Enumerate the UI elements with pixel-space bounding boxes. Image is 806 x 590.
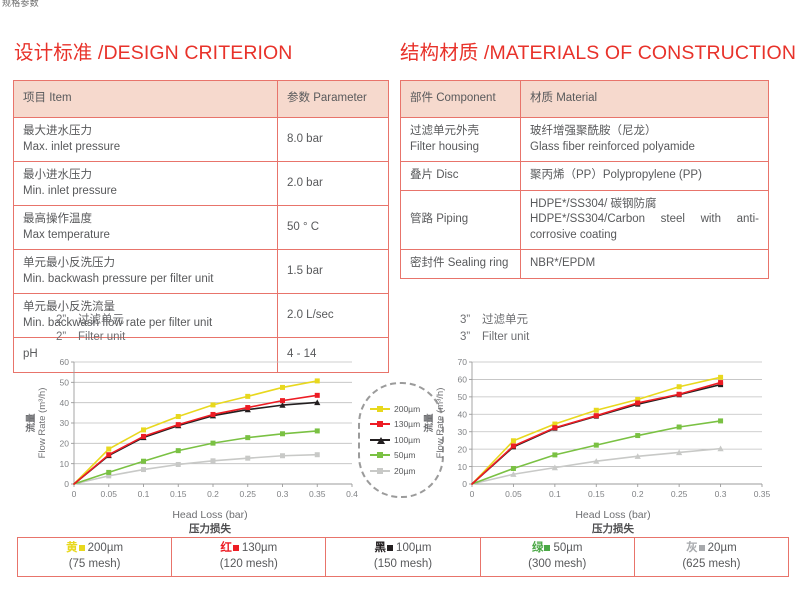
material-component-en: 管路 Piping: [410, 212, 511, 228]
chart-data-point: [594, 413, 599, 418]
spec-item-en: Max. inlet pressure: [23, 140, 268, 156]
color-key-name-cn: 黑: [375, 542, 387, 554]
chart-data-point: [677, 392, 682, 397]
material-component-cell: 过滤单元外壳Filter housing: [401, 118, 521, 162]
table-row: 单元最小反洗压力Min. backwash pressure per filte…: [14, 250, 389, 294]
color-key-name-cn: 绿: [532, 542, 544, 554]
material-value-cn: 玻纤增强聚酰胺（尼龙）: [530, 124, 759, 140]
color-key-cell: 黄200µm(75 mesh): [18, 538, 172, 576]
chart-x-tick-label: 0.1: [138, 489, 150, 499]
chart-x-tick-label: 0.3: [715, 489, 727, 499]
chart-data-point: [245, 456, 250, 461]
legend-swatch-icon: [370, 435, 390, 445]
chart-y-tick-label: 10: [458, 462, 468, 472]
materials-table: 部件 Component 材质 Material 过滤单元外壳Filter ho…: [400, 80, 769, 279]
chart-data-point: [141, 434, 146, 439]
spec-value-cell: 1.5 bar: [278, 250, 389, 294]
material-value-en: NBR*/EPDM: [530, 256, 759, 272]
legend-label: 130µm: [394, 419, 420, 429]
color-key-swatch-icon: [79, 545, 85, 551]
chart-3in-plot-area: 01020304050607000.050.10.150.20.250.30.3…: [420, 354, 770, 504]
chart-y-tick-label: 40: [458, 409, 468, 419]
spec-item-cn: 最高操作温度: [23, 212, 268, 228]
chart-3in-xlabel-cn: 压力损失: [438, 522, 788, 536]
chart-2in-title-cn: 过滤单元: [78, 314, 124, 326]
chart-2in-xlabel-en: Head Loss (bar): [40, 508, 380, 522]
material-value-cell: 玻纤增强聚酰胺（尼龙）Glass fiber reinforced polyam…: [521, 118, 769, 162]
spec-value-cell: 2.0 bar: [278, 162, 389, 206]
column-header-parameter: 参数 Parameter: [278, 81, 389, 118]
chart-data-point: [635, 433, 640, 438]
spec-item-cell: 单元最小反洗压力Min. backwash pressure per filte…: [14, 250, 278, 294]
chart-3in-x-axis-label: Head Loss (bar) 压力损失: [420, 508, 788, 536]
chart-x-tick-label: 0.4: [346, 489, 358, 499]
legend-label: 20µm: [394, 466, 415, 476]
material-value-cell: HDPE*/SS304/ 碳钢防腐HDPE*/SS304/Carbon stee…: [521, 190, 769, 250]
chart-2in-size-2: 2”: [56, 329, 78, 346]
design-criterion-title-cn: 设计标准: [14, 42, 98, 64]
chart-y-tick-label: 0: [64, 479, 69, 489]
column-header-material: 材质 Material: [521, 81, 769, 118]
chart-data-point: [635, 400, 640, 405]
material-value-cell: 聚丙烯（PP）Polypropylene (PP): [521, 162, 769, 191]
material-value-en: HDPE*/SS304/Carbon steel with anti-corro…: [530, 212, 759, 243]
material-value-cell: NBR*/EPDM: [521, 250, 769, 279]
spec-item-en: Min. backwash pressure per filter unit: [23, 272, 268, 288]
table-header-row: 部件 Component 材质 Material: [401, 81, 769, 118]
legend-swatch-icon: [370, 466, 390, 476]
color-key-cell: 红130µm(120 mesh): [172, 538, 326, 576]
svg-text:Flow Rate (m³/h): Flow Rate (m³/h): [435, 388, 446, 459]
legend-label: 50µm: [394, 450, 415, 460]
color-key-micron: 50µm: [553, 542, 582, 554]
chart-y-tick-label: 30: [458, 427, 468, 437]
chart-2-inch-filter-unit: 2”过滤单元 2”Filter unit 010203040506000.050…: [18, 312, 358, 540]
chart-x-tick-label: 0.1: [549, 489, 561, 499]
chart-data-point: [245, 405, 250, 410]
material-component-cell: 管路 Piping: [401, 190, 521, 250]
chart-data-point: [677, 384, 682, 389]
chart-x-tick-label: 0: [470, 489, 475, 499]
chart-3in-size-1: 3”: [460, 312, 482, 329]
chart-3in-svg: 01020304050607000.050.10.150.20.250.30.3…: [420, 354, 770, 504]
legend-item: 100µm: [370, 432, 420, 448]
chart-data-point: [594, 408, 599, 413]
spec-item-cell: 最大进水压力Max. inlet pressure: [14, 118, 278, 162]
chart-data-point: [315, 452, 320, 457]
chart-3in-title-cn: 过滤单元: [482, 314, 528, 326]
chart-data-point: [552, 452, 557, 457]
table-row: 最大进水压力Max. inlet pressure8.0 bar: [14, 118, 389, 162]
svg-text:流量: 流量: [25, 413, 37, 433]
chart-data-point: [280, 431, 285, 436]
chart-y-tick-label: 50: [458, 392, 468, 402]
legend-item: 200µm: [370, 401, 420, 417]
column-header-component: 部件 Component: [401, 81, 521, 118]
color-key-cell: 绿50µm(300 mesh): [481, 538, 635, 576]
chart-data-point: [511, 438, 516, 443]
column-header-item: 项目 Item: [14, 81, 278, 118]
chart-y-tick-label: 20: [60, 439, 70, 449]
chart-y-tick-label: 20: [458, 444, 468, 454]
chart-data-point: [315, 378, 320, 383]
chart-data-point: [176, 448, 181, 453]
chart-data-point: [315, 428, 320, 433]
chart-data-point: [594, 443, 599, 448]
top-crumb-text: 规格参数: [2, 0, 39, 9]
chart-data-point: [176, 414, 181, 419]
chart-data-point: [106, 447, 111, 452]
spec-item-cell: 最高操作温度Max temperature: [14, 206, 278, 250]
chart-data-point: [211, 402, 216, 407]
chart-y-tick-label: 70: [458, 357, 468, 367]
material-component-cn: 过滤单元外壳: [410, 124, 511, 140]
chart-x-tick-label: 0.05: [100, 489, 117, 499]
chart-data-point: [280, 398, 285, 403]
chart-data-point: [141, 427, 146, 432]
chart-x-tick-label: 0: [72, 489, 77, 499]
color-key-mesh: (120 mesh): [220, 557, 278, 573]
chart-data-point: [176, 462, 181, 467]
color-key-micron: 200µm: [88, 542, 123, 554]
color-key-swatch-icon: [387, 545, 393, 551]
materials-title: 结构材质 /MATERIALS OF CONSTRUCTION: [400, 36, 796, 65]
spec-value-cell: 8.0 bar: [278, 118, 389, 162]
legend-label: 200µm: [394, 404, 420, 414]
chart-y-tick-label: 60: [60, 357, 70, 367]
chart-data-point: [245, 435, 250, 440]
chart-3in-title: 3”过滤单元 3”Filter unit: [460, 312, 529, 345]
chart-data-point: [245, 394, 250, 399]
chart-x-tick-label: 0.25: [671, 489, 688, 499]
design-criterion-title: 设计标准 /DESIGN CRITERION: [14, 36, 292, 65]
chart-x-tick-label: 0.2: [207, 489, 219, 499]
spec-item-en: Max temperature: [23, 228, 268, 244]
chart-data-point: [718, 380, 723, 385]
chart-y-tick-label: 10: [60, 459, 70, 469]
legend-label: 100µm: [394, 435, 420, 445]
material-component-cell: 叠片 Disc: [401, 162, 521, 191]
chart-data-point: [511, 466, 516, 471]
chart-data-point: [718, 375, 723, 380]
material-value-cn: HDPE*/SS304/ 碳钢防腐: [530, 197, 759, 213]
legend-item: 50µm: [370, 448, 420, 464]
chart-x-tick-label: 0.05: [505, 489, 522, 499]
materials-title-en: /MATERIALS OF CONSTRUCTION: [484, 42, 796, 64]
chart-x-tick-label: 0.3: [277, 489, 289, 499]
spec-item-cn: 最大进水压力: [23, 124, 268, 140]
chart-data-point: [211, 441, 216, 446]
materials-title-cn: 结构材质: [400, 42, 484, 64]
chart-series-line: [472, 385, 721, 484]
material-component-cell: 密封件 Sealing ring: [401, 250, 521, 279]
chart-2in-svg: 010203040506000.050.10.150.20.250.30.350…: [18, 354, 358, 504]
table-row: 过滤单元外壳Filter housing玻纤增强聚酰胺（尼龙）Glass fib…: [401, 118, 769, 162]
chart-3-inch-filter-unit: 3”过滤单元 3”Filter unit 01020304050607000.0…: [420, 312, 770, 540]
chart-data-point: [511, 444, 516, 449]
spec-value-cell: 50 ° C: [278, 206, 389, 250]
chart-x-tick-label: 0.35: [309, 489, 326, 499]
color-key-swatch-icon: [699, 545, 705, 551]
chart-2in-title: 2”过滤单元 2”Filter unit: [56, 312, 125, 345]
chart-data-point: [552, 425, 557, 430]
legend-swatch-icon: [370, 419, 390, 429]
chart-x-tick-label: 0.25: [239, 489, 256, 499]
color-key-name-cn: 红: [220, 542, 232, 554]
color-key-micron: 20µm: [708, 542, 737, 554]
color-key-strip: 黄200µm(75 mesh)红130µm(120 mesh)黑100µm(15…: [17, 537, 789, 577]
chart-data-point: [280, 385, 285, 390]
table-row: 叠片 Disc聚丙烯（PP）Polypropylene (PP): [401, 162, 769, 191]
chart-y-tick-label: 0: [462, 479, 467, 489]
spec-item-cn: 单元最小反洗压力: [23, 256, 268, 272]
spec-item-en: Min. inlet pressure: [23, 184, 268, 200]
color-key-cell: 灰20µm(625 mesh): [635, 538, 788, 576]
chart-2in-plot-area: 010203040506000.050.10.150.20.250.30.350…: [18, 354, 358, 504]
chart-data-point: [211, 458, 216, 463]
spec-item-cell: 最小进水压力Min. inlet pressure: [14, 162, 278, 206]
color-key-mesh: (150 mesh): [374, 557, 432, 573]
chart-data-point: [280, 453, 285, 458]
chart-2in-xlabel-cn: 压力损失: [40, 522, 380, 536]
material-component-en: Filter housing: [410, 140, 511, 156]
color-key-micron: 130µm: [242, 542, 277, 554]
chart-data-point: [315, 393, 320, 398]
table-row: 最高操作温度Max temperature50 ° C: [14, 206, 389, 250]
table-header-row: 项目 Item 参数 Parameter: [14, 81, 389, 118]
chart-y-tick-label: 40: [60, 398, 70, 408]
chart-3in-xlabel-en: Head Loss (bar): [438, 508, 788, 522]
chart-y-tick-label: 30: [60, 418, 70, 428]
chart-data-point: [106, 452, 111, 457]
color-key-micron: 100µm: [396, 542, 431, 554]
table-row: 最小进水压力Min. inlet pressure2.0 bar: [14, 162, 389, 206]
chart-series-line: [74, 455, 317, 484]
spec-item-cn: 最小进水压力: [23, 168, 268, 184]
chart-data-point: [176, 422, 181, 427]
svg-text:Flow Rate (m³/h): Flow Rate (m³/h): [37, 388, 48, 459]
chart-data-point: [677, 425, 682, 430]
color-key-cell: 黑100µm(150 mesh): [326, 538, 480, 576]
legend-item: 20µm: [370, 463, 420, 479]
chart-2in-x-axis-label: Head Loss (bar) 压力损失: [18, 508, 380, 536]
chart-2in-title-en: Filter unit: [78, 331, 125, 343]
color-key-mesh: (625 mesh): [682, 557, 740, 573]
color-key-swatch-icon: [233, 545, 239, 551]
table-row: 管路 PipingHDPE*/SS304/ 碳钢防腐HDPE*/SS304/Ca…: [401, 190, 769, 250]
legend-item: 130µm: [370, 417, 420, 433]
chart-y-axis-label: 流量Flow Rate (m³/h): [423, 388, 446, 459]
color-key-name-cn: 黄: [66, 542, 78, 554]
chart-y-axis-label: 流量Flow Rate (m³/h): [25, 388, 48, 459]
chart-x-tick-label: 0.35: [754, 489, 770, 499]
legend-swatch-icon: [370, 450, 390, 460]
chart-3in-title-en: Filter unit: [482, 331, 529, 343]
chart-x-tick-label: 0.15: [170, 489, 187, 499]
chart-data-point: [211, 412, 216, 417]
chart-y-tick-label: 50: [60, 378, 70, 388]
color-key-mesh: (300 mesh): [528, 557, 586, 573]
svg-text:流量: 流量: [423, 413, 435, 433]
chart-y-tick-label: 60: [458, 375, 468, 385]
chart-data-point: [141, 459, 146, 464]
chart-x-tick-label: 0.15: [588, 489, 605, 499]
material-component-en: 叠片 Disc: [410, 168, 511, 184]
design-criterion-title-en: /DESIGN CRITERION: [98, 42, 293, 64]
chart-2in-size-1: 2”: [56, 312, 78, 329]
table-row: 密封件 Sealing ringNBR*/EPDM: [401, 250, 769, 279]
spec-sheet-page: 规格参数 设计标准 /DESIGN CRITERION 项目 Item 参数 P…: [0, 0, 806, 590]
legend-swatch-icon: [370, 404, 390, 414]
chart-data-point: [141, 467, 146, 472]
color-key-swatch-icon: [544, 545, 550, 551]
chart-data-point: [106, 470, 111, 475]
color-key-name-cn: 灰: [686, 542, 698, 554]
color-key-mesh: (75 mesh): [69, 557, 121, 573]
material-value-en: 聚丙烯（PP）Polypropylene (PP): [530, 168, 759, 184]
material-value-en: Glass fiber reinforced polyamide: [530, 140, 759, 156]
chart-x-tick-label: 0.2: [632, 489, 644, 499]
chart-data-point: [718, 418, 723, 423]
chart-series-line: [472, 383, 721, 484]
chart-3in-size-2: 3”: [460, 329, 482, 346]
material-component-en: 密封件 Sealing ring: [410, 256, 511, 272]
